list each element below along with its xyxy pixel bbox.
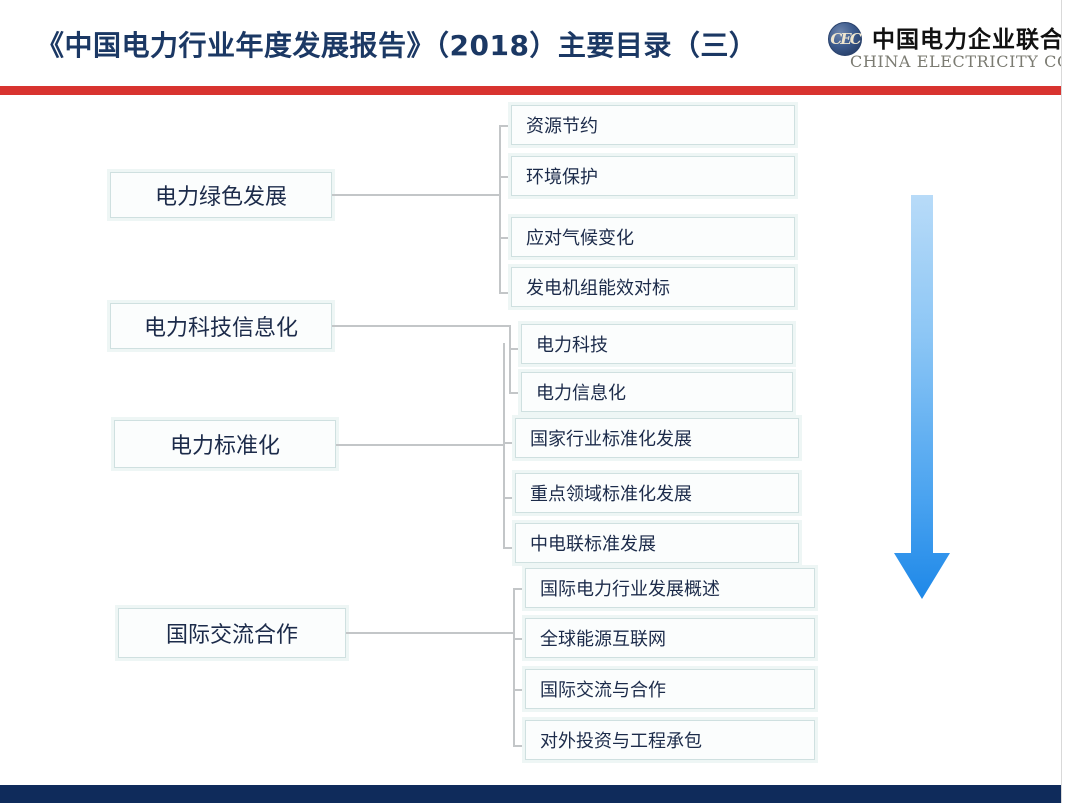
connector-child-1-1	[499, 125, 511, 127]
child-node-1-4[interactable]: 发电机组能效对标	[511, 267, 795, 307]
connector-parent-4-stem	[346, 632, 514, 634]
slide-canvas: 《中国电力行业年度发展报告》（2018）主要目录（三） CEC 中国电力企业联合…	[0, 0, 1072, 803]
connector-child-1-2	[499, 176, 511, 178]
connector-parent-3-spine	[503, 343, 505, 548]
child-node-3-2-label: 重点领域标准化发展	[530, 480, 692, 506]
logo-name-cn: 中国电力企业联合会	[872, 20, 1072, 54]
connector-parent-1-spine	[499, 125, 501, 293]
child-node-3-1-label: 国家行业标准化发展	[530, 425, 692, 451]
organization-logo: CEC 中国电力企业联合会 CHINA ELECTRICITY COUNCIL	[828, 18, 1062, 80]
child-node-4-2[interactable]: 全球能源互联网	[525, 618, 815, 658]
child-node-2-1[interactable]: 电力科技	[521, 324, 793, 364]
connector-parent-4-spine	[513, 588, 515, 746]
child-node-3-2[interactable]: 重点领域标准化发展	[515, 473, 799, 513]
parent-node-2[interactable]: 电力科技信息化	[110, 303, 332, 349]
connector-child-3-3	[503, 547, 515, 549]
parent-node-3[interactable]: 电力标准化	[114, 420, 336, 468]
page-title: 《中国电力行业年度发展报告》（2018）主要目录（三）	[36, 24, 757, 64]
connector-child-4-1	[513, 588, 525, 590]
child-node-4-1-label: 国际电力行业发展概述	[540, 575, 720, 601]
child-node-2-2-label: 电力信息化	[536, 379, 626, 405]
footer-bar	[0, 785, 1061, 803]
slide-right-edge	[1061, 0, 1072, 803]
connector-child-3-1	[503, 442, 515, 444]
cec-emblem-glyph: CEC	[829, 23, 861, 55]
child-node-4-1[interactable]: 国际电力行业发展概述	[525, 568, 815, 608]
connector-parent-3-stem	[336, 444, 504, 446]
connector-parent-2-spine	[509, 325, 511, 393]
parent-node-3-label: 电力标准化	[170, 428, 280, 460]
slide-header: 《中国电力行业年度发展报告》（2018）主要目录（三） CEC 中国电力企业联合…	[0, 0, 1072, 86]
connector-parent-2-stem	[332, 325, 510, 327]
connector-child-4-3	[513, 689, 525, 691]
header-red-rule	[0, 86, 1061, 95]
connector-child-3-2	[503, 497, 515, 499]
parent-node-1[interactable]: 电力绿色发展	[110, 172, 332, 218]
logo-name-en: CHINA ELECTRICITY COUNCIL	[850, 52, 1072, 71]
connector-child-1-3	[499, 237, 511, 239]
child-node-1-4-label: 发电机组能效对标	[526, 274, 670, 300]
child-node-4-4-label: 对外投资与工程承包	[540, 727, 702, 753]
child-node-1-3[interactable]: 应对气候变化	[511, 217, 795, 257]
child-node-1-1-label: 资源节约	[526, 112, 598, 138]
connector-parent-1-stem	[332, 194, 500, 196]
child-node-1-3-label: 应对气候变化	[526, 224, 634, 250]
child-node-1-2-label: 环境保护	[526, 163, 598, 189]
connector-child-4-4	[513, 745, 525, 747]
child-node-2-1-label: 电力科技	[536, 331, 608, 357]
child-node-3-1[interactable]: 国家行业标准化发展	[515, 418, 799, 458]
connector-child-4-2	[513, 638, 525, 640]
child-node-4-3-label: 国际交流与合作	[540, 676, 666, 702]
child-node-1-2[interactable]: 环境保护	[511, 156, 795, 196]
cec-emblem-icon: CEC	[828, 22, 862, 56]
child-node-4-2-label: 全球能源互联网	[540, 625, 666, 651]
child-node-3-3[interactable]: 中电联标准发展	[515, 523, 799, 563]
connector-child-1-4	[499, 292, 511, 294]
child-node-2-2[interactable]: 电力信息化	[521, 372, 793, 412]
down-arrow-icon	[892, 195, 952, 625]
child-node-3-3-label: 中电联标准发展	[530, 530, 656, 556]
child-node-1-1[interactable]: 资源节约	[511, 105, 795, 145]
parent-node-4[interactable]: 国际交流合作	[118, 608, 346, 658]
child-node-4-4[interactable]: 对外投资与工程承包	[525, 720, 815, 760]
parent-node-4-label: 国际交流合作	[166, 617, 298, 649]
parent-node-2-label: 电力科技信息化	[144, 310, 298, 342]
connector-child-2-2	[509, 392, 521, 394]
parent-node-1-label: 电力绿色发展	[155, 179, 287, 211]
child-node-4-3[interactable]: 国际交流与合作	[525, 669, 815, 709]
connector-child-2-1	[509, 348, 521, 350]
